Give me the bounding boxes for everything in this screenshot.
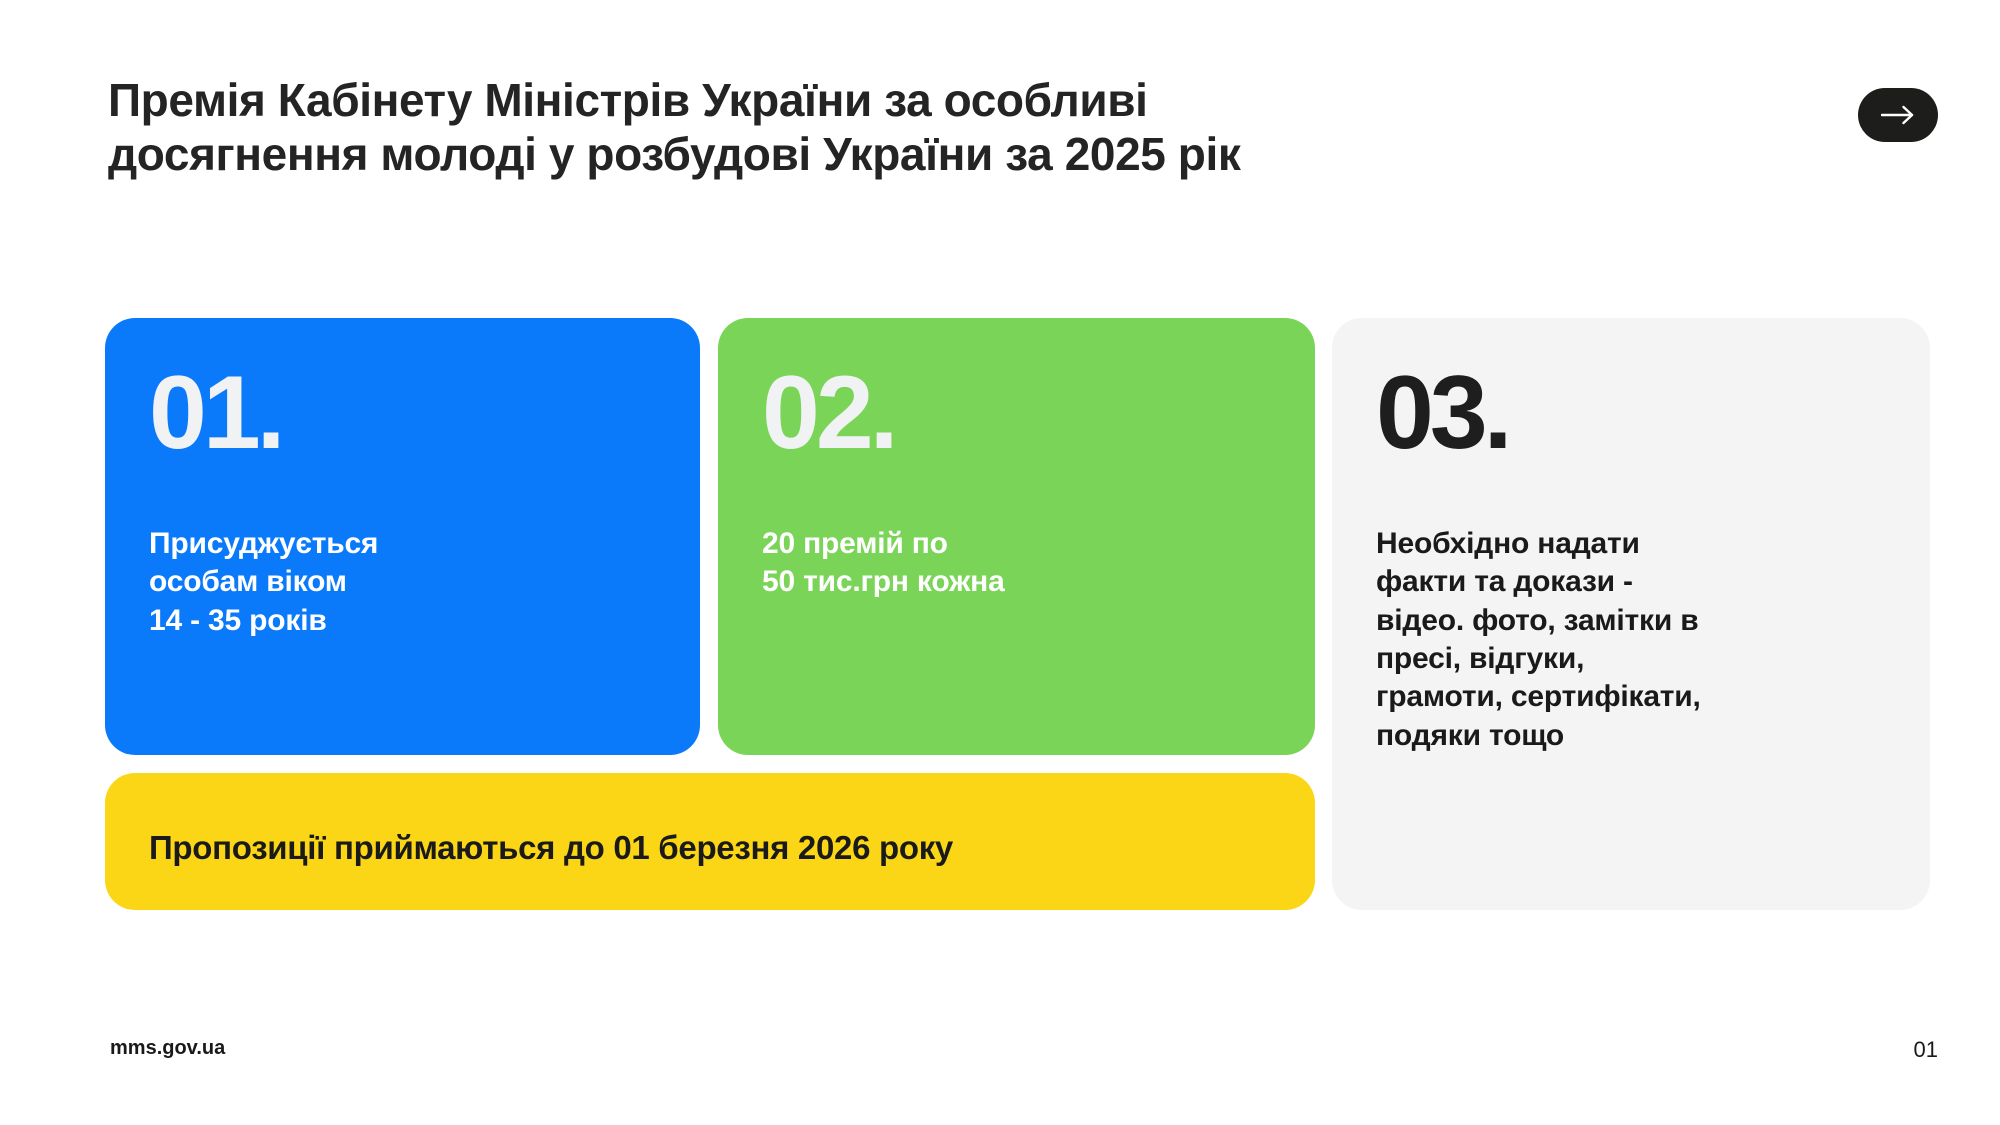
card-body-02: 20 премій по 50 тис.грн кожна (762, 525, 1271, 602)
slide: Премія Кабінету Міністрів України за осо… (0, 0, 2000, 1125)
card-number-03: 03. (1376, 364, 1886, 463)
footer-website[interactable]: mms.gov.ua (110, 1037, 225, 1060)
card-body-03: Необхідно надати факти та докази - відео… (1376, 525, 1886, 755)
info-card-03[interactable]: 03. Необхідно надати факти та докази - в… (1332, 318, 1930, 910)
info-card-02[interactable]: 02. 20 премій по 50 тис.грн кожна (718, 318, 1315, 755)
deadline-banner-text: Пропозиції приймаються до 01 березня 202… (149, 829, 953, 867)
info-card-01[interactable]: 01. Присуджується особам віком 14 - 35 р… (105, 318, 700, 755)
next-slide-button[interactable] (1858, 88, 1938, 142)
card-number-01: 01. (149, 364, 656, 463)
page-title: Премія Кабінету Міністрів України за осо… (108, 74, 1668, 182)
card-number-02: 02. (762, 364, 1271, 463)
card-body-01: Присуджується особам віком 14 - 35 років (149, 525, 656, 640)
footer: mms.gov.ua 01 (0, 1037, 2000, 1067)
header: Премія Кабінету Міністрів України за осо… (108, 74, 1668, 182)
arrow-right-icon (1881, 105, 1915, 125)
footer-page-number: 01 (1914, 1037, 1938, 1063)
deadline-banner: Пропозиції приймаються до 01 березня 202… (105, 773, 1315, 910)
